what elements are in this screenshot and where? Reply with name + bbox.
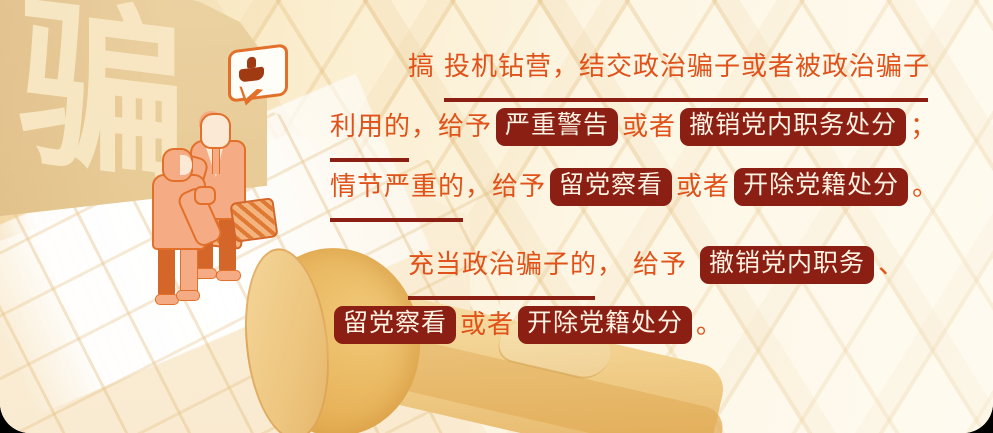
text-run: ，给予 <box>465 158 546 216</box>
shorter-man-leg-left <box>158 242 175 298</box>
paragraph-p2: 充当政治骗子的，给予撤销党内职务、留党察看或者开除党籍处分。 <box>330 234 900 354</box>
text-run: 搞 <box>408 38 435 96</box>
paragraph-p1: 搞投机钻营，结交政治骗子或者被政治骗子利用的，给予严重警告或者撤销党内职务处分；… <box>330 36 900 216</box>
text-run: ， <box>597 236 624 294</box>
speech-bubble-tail-inner <box>239 85 259 100</box>
underlined-phrase: 投机钻营，结交政治骗子或者被政治骗子 <box>444 38 930 96</box>
underlined-phrase: 充当政治骗子的 <box>408 236 597 294</box>
money-bag-primary <box>229 197 278 243</box>
taller-man-shoe-right <box>216 270 241 281</box>
shorter-man-shoe-right <box>176 290 200 301</box>
penalty-badge: 开除党籍处分 <box>518 306 692 344</box>
text-run: 。 <box>696 296 723 354</box>
text-run: 或者 <box>460 296 514 354</box>
text-line: 搞投机钻营，结交政治骗子或者被政治骗子 <box>330 36 900 96</box>
underlined-phrase: 利用的 <box>330 98 411 156</box>
text-run: 或者 <box>676 158 730 216</box>
penalty-badge: 留党察看 <box>550 168 672 206</box>
text-line: 充当政治骗子的，给予撤销党内职务、 <box>330 234 900 294</box>
watermark-character: 骗 <box>18 0 186 193</box>
text-run: ，给予 <box>411 98 492 156</box>
penalty-badge: 开除党籍处分 <box>734 168 908 206</box>
penalty-badge: 撤销党内职务处分 <box>680 108 906 146</box>
penalty-badge: 留党察看 <box>334 306 456 344</box>
handshake-hands <box>194 186 216 205</box>
taller-man-head <box>200 113 231 149</box>
text-line: 情节严重的，给予留党察看或者开除党籍处分。 <box>330 156 900 216</box>
taller-man-tie <box>212 148 220 174</box>
text-run: 或者 <box>622 98 676 156</box>
text-run: 。 <box>912 158 939 216</box>
poster-root: 骗 <box>0 0 993 433</box>
text-line: 留党察看或者开除党籍处分。 <box>330 294 900 354</box>
penalty-badge: 撤销党内职务 <box>700 246 874 284</box>
text-run: 、 <box>878 236 905 294</box>
regulation-text-block: 搞投机钻营，结交政治骗子或者被政治骗子利用的，给予严重警告或者撤销党内职务处分；… <box>330 36 900 354</box>
text-run: ； <box>910 98 937 156</box>
underlined-phrase: 情节严重的 <box>330 158 465 216</box>
penalty-badge: 严重警告 <box>496 108 618 146</box>
text-run: 给予 <box>633 236 687 294</box>
text-line: 利用的，给予严重警告或者撤销党内职务处分； <box>330 96 900 156</box>
